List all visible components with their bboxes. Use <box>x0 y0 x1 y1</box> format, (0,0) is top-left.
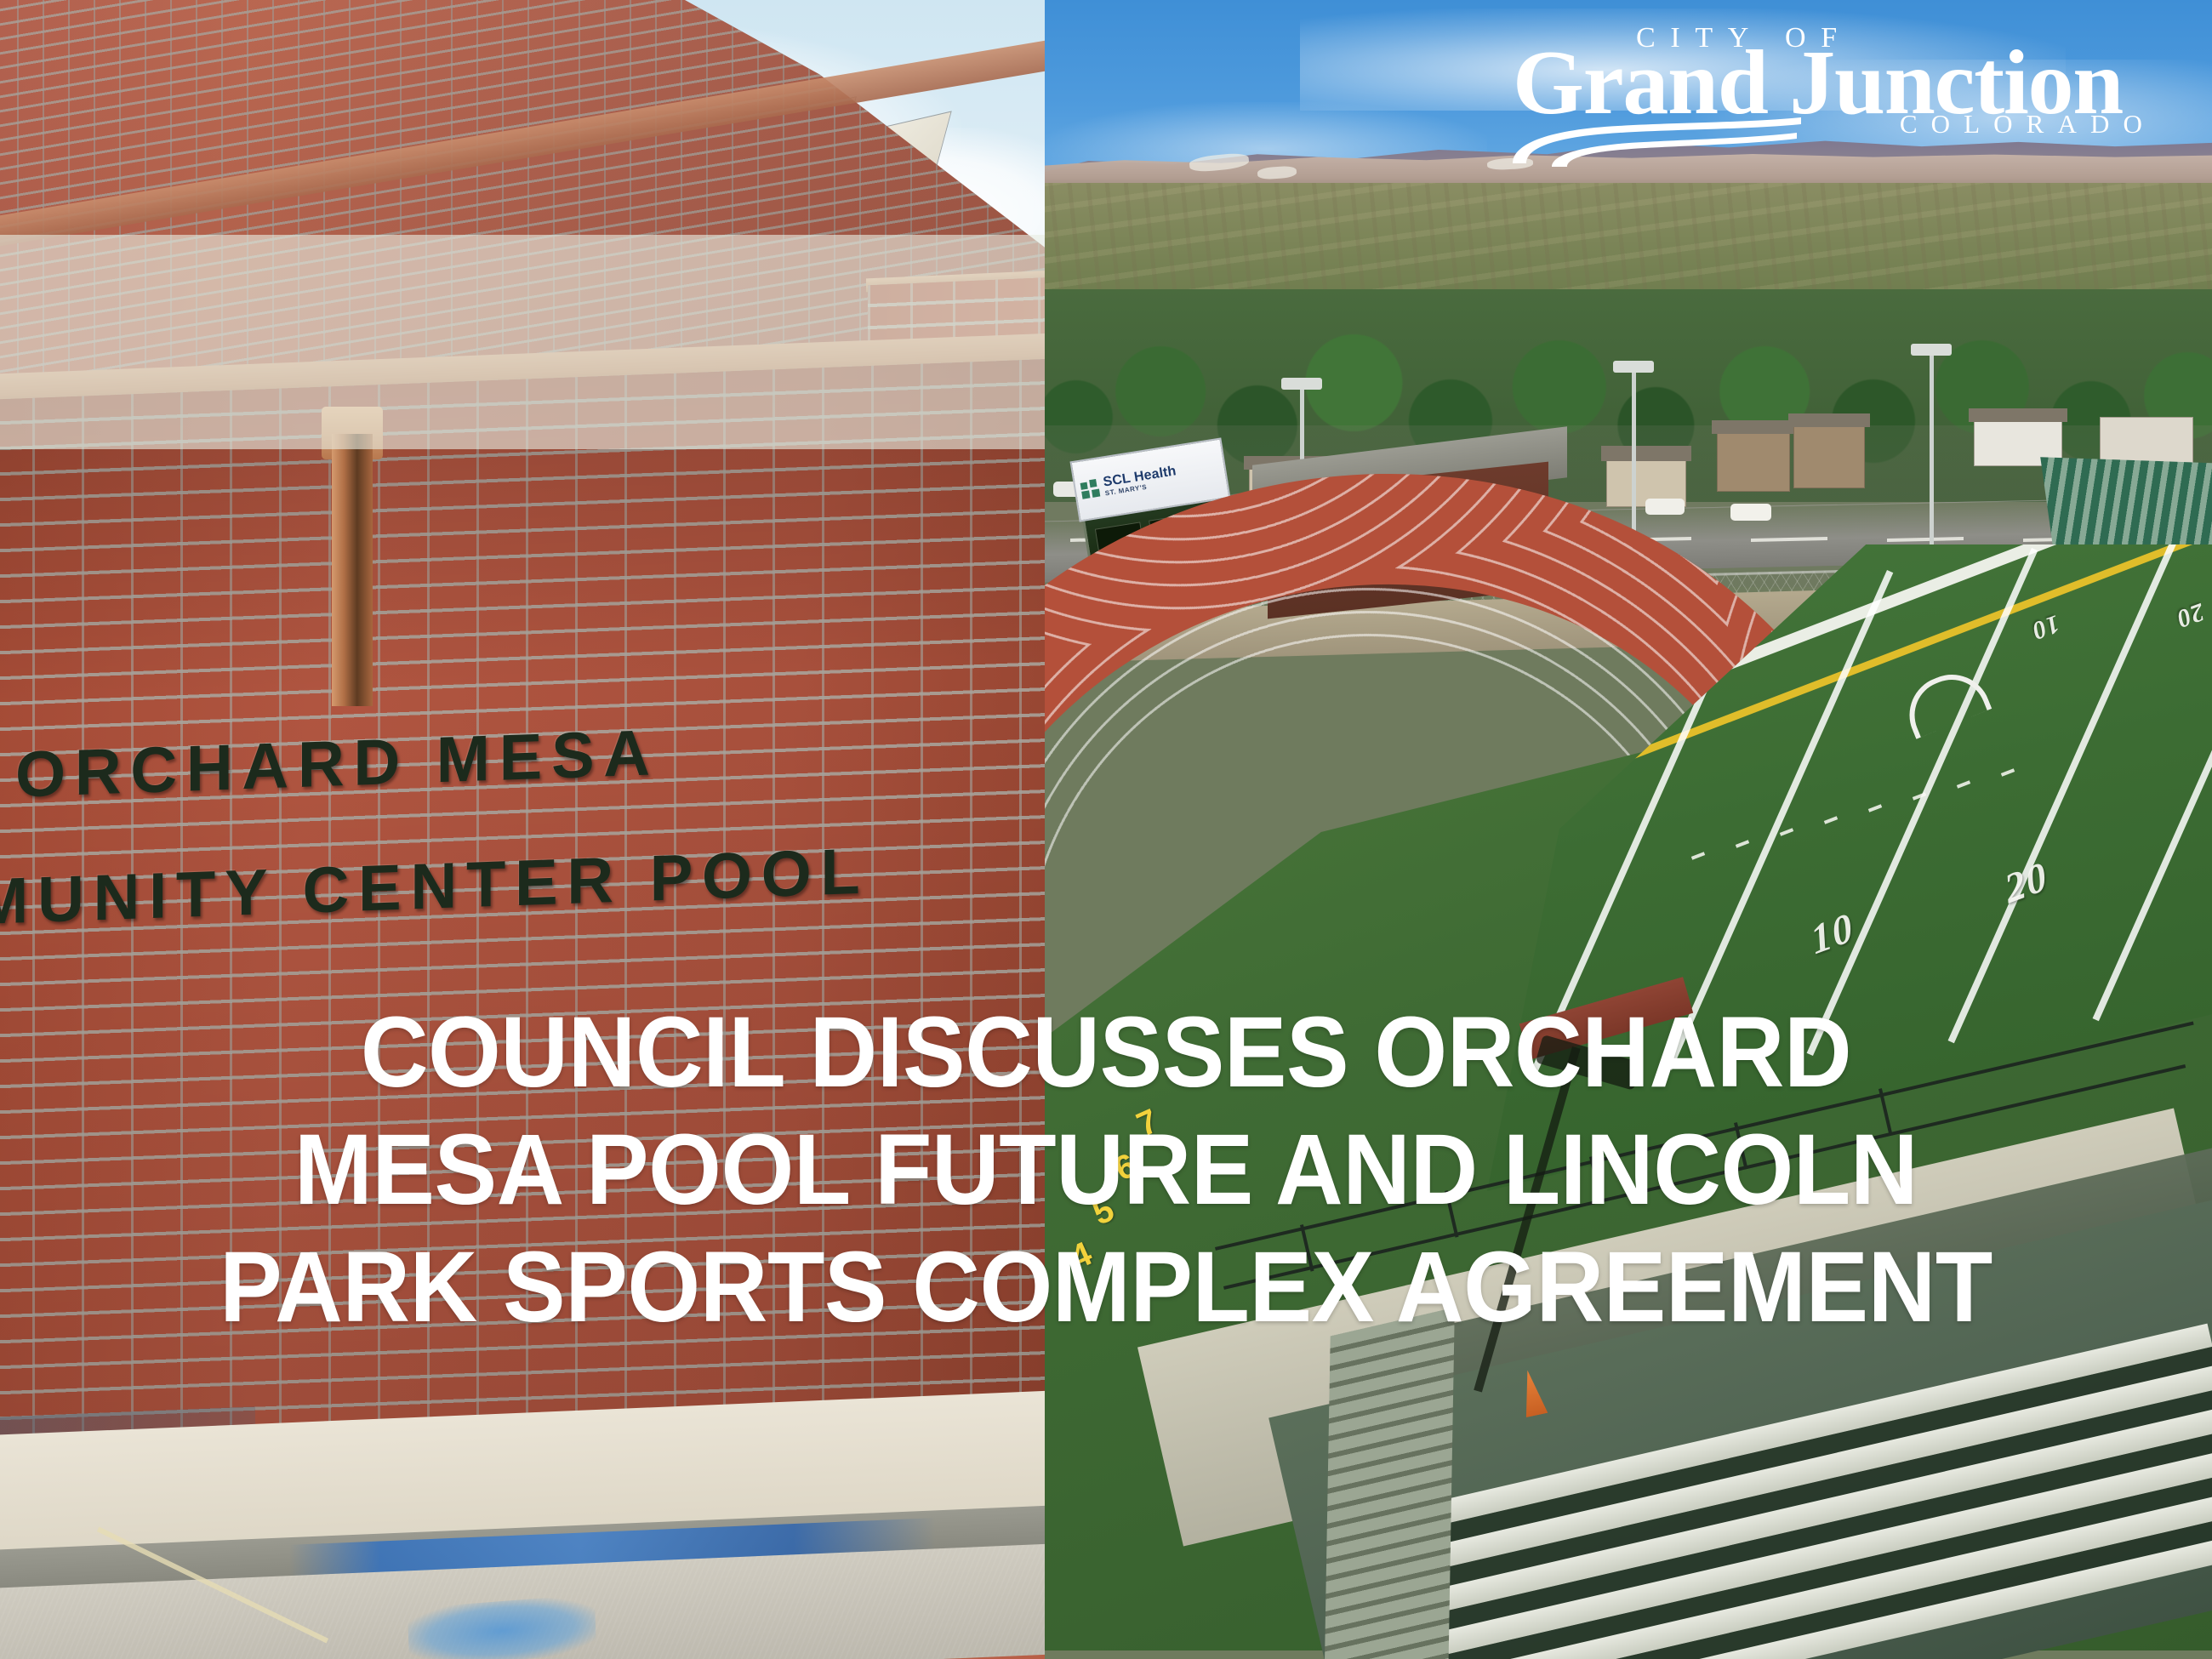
house <box>1793 424 1865 488</box>
headline-line-2: MESA POOL FUTURE AND LINCOLN <box>104 1120 2108 1220</box>
house-roof <box>1712 420 1795 434</box>
yard-line <box>1948 527 2183 1043</box>
orchard-mesa-pool-photo: ORCHARD MESA MUNITY CENTER POOL <box>0 0 1045 1659</box>
bleacher-stairs <box>1324 1308 1455 1659</box>
house <box>1717 430 1790 492</box>
light-pole-head <box>1281 378 1322 390</box>
house-roof <box>1969 408 2067 422</box>
headline-line-1: COUNCIL DISCUSSES ORCHARD <box>104 1002 2108 1103</box>
city-logo: CITY OF Grand Junction COLORADO <box>1513 22 2159 150</box>
headline-line-3: PARK SPORTS COMPLEX AGREEMENT <box>104 1237 2108 1337</box>
light-pole-head <box>1613 361 1654 373</box>
logo-colorado-text: COLORADO <box>1900 111 2156 137</box>
parked-car <box>1645 499 1685 515</box>
house-roof <box>1788 413 1870 427</box>
parked-car <box>1730 504 1771 521</box>
scl-health-logo-icon <box>1080 479 1101 500</box>
lincoln-park-stadium-photo: SCL Health ST. MARY'S HOME LOAN STATE BA… <box>1045 0 2212 1659</box>
house-roof <box>1601 446 1691 461</box>
headline: COUNCIL DISCUSSES ORCHARD MESA POOL FUTU… <box>72 1002 2141 1337</box>
roof-vent-stack <box>332 434 373 706</box>
light-pole-head <box>1911 344 1952 356</box>
news-banner-image: ORCHARD MESA MUNITY CENTER POOL <box>0 0 2212 1659</box>
